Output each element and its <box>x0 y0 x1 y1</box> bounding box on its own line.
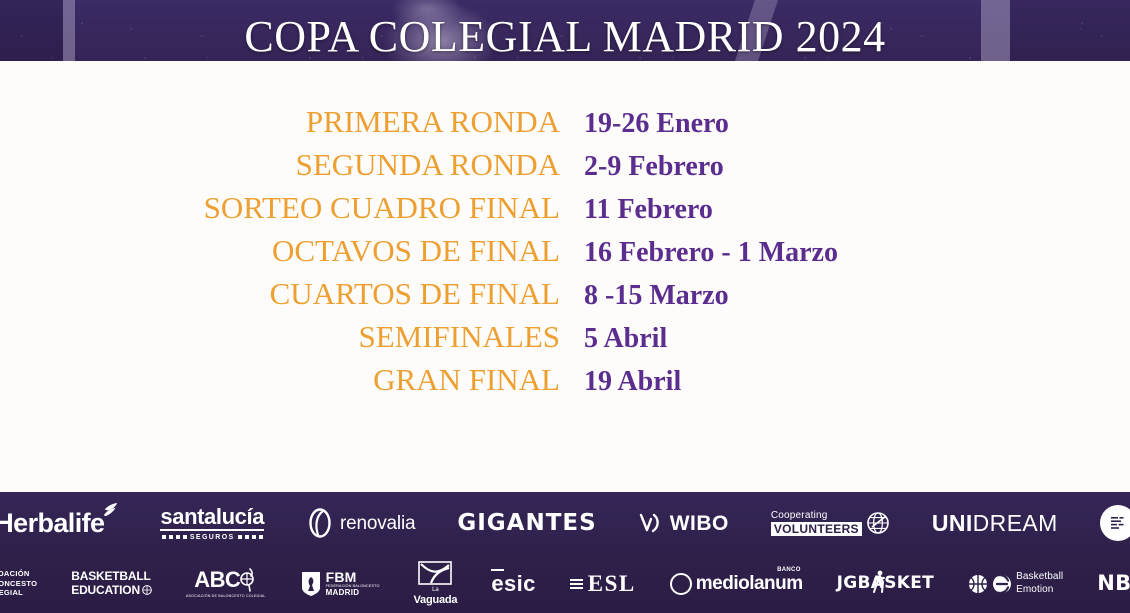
schedule-phase-label: OCTAVOS DE FINAL <box>0 229 560 272</box>
wibo-mark-icon <box>639 512 663 534</box>
sponsor-logo-basketball-emotion: Basketball Emotion <box>968 571 1063 595</box>
la-vaguada-wordmark: Vaguada <box>414 595 458 606</box>
mediolanum-banco-label: BANCO <box>777 567 801 573</box>
sponsor-logo-cooperating-volunteers: Cooperating VOLUNTEERS <box>771 511 890 536</box>
fundacion-line-1: FUNDACIÓN <box>0 569 37 579</box>
schedule-date-value: 11 Febrero <box>560 188 1120 231</box>
sponsor-logo-abc: ABC ASOCIACIÓN DE BALONCESTO COLEGIAL <box>186 568 266 599</box>
basketball-icon <box>142 585 152 595</box>
esl-bars-icon <box>570 579 583 589</box>
fundacion-text-stack: FUNDACIÓN BALONCESTO COLEGIAL <box>0 569 37 599</box>
schedule-phase-label: PRIMERA RONDA <box>0 100 560 143</box>
renovalia-swirl-icon <box>306 508 334 538</box>
abc-letters: ABC <box>194 569 240 591</box>
schedule-row: SEMIFINALES 5 Abril <box>0 315 1130 358</box>
globe-icon <box>866 511 890 535</box>
square-dot-icon <box>183 535 187 539</box>
schedule-phase-label: SORTEO CUADRO FINAL <box>0 186 560 229</box>
fundacion-line-3: COLEGIAL <box>0 588 37 598</box>
square-dot-icon <box>252 535 256 539</box>
header-banner: COPA COLEGIAL MADRID 2024 <box>0 0 1130 61</box>
esl-wordmark: ESL <box>588 572 636 595</box>
schedule-date-value: 19-26 Enero <box>560 102 1120 145</box>
schedule-phase-label: GRAN FINAL <box>0 358 560 401</box>
mediolanum-ring-icon <box>670 573 692 595</box>
square-dot-icon <box>238 535 242 539</box>
mediolanum-text: mediolanum <box>696 573 803 594</box>
sponsor-logo-renovalia: renovalia <box>306 508 415 538</box>
sponsor-logo-fundacion-baloncesto-colegial: FUNDACIÓN BALONCESTO COLEGIAL <box>0 569 37 599</box>
mediolanum-wordmark: mediolanum BANCO <box>696 574 803 593</box>
square-dot-icon <box>259 535 263 539</box>
sponsor-logo-la-vaguada: La Vaguada <box>414 561 458 606</box>
emotion-e-icon <box>992 574 1012 594</box>
sponsor-logo-wibo: WIBO <box>639 512 729 534</box>
volunteers-text-stack: Cooperating VOLUNTEERS <box>771 511 862 536</box>
basketball-label: BASKETBALL <box>71 570 150 583</box>
herbalife-leaf-icon <box>102 502 119 517</box>
unidream-uni-part: UNI <box>932 512 973 535</box>
fbm-shield-icon <box>300 570 322 598</box>
sponsor-bar: Herbalife santalucía SEGUROS <box>0 492 1130 613</box>
schedule-phase-label: SEGUNDA RONDA <box>0 143 560 186</box>
schedule-date-value: 8 -15 Marzo <box>560 274 1120 317</box>
fundacion-line-2: BALONCESTO <box>0 579 37 589</box>
schedule-phase-label: CUARTOS DE FINAL <box>0 272 560 315</box>
square-dot-icon <box>176 535 180 539</box>
sponsor-logo-nbn23: NBN23 <box>1097 573 1130 594</box>
education-label: EDUCATION <box>71 584 140 597</box>
bemotion-line-2: Emotion <box>1016 584 1063 596</box>
circle-badge-glyph-icon <box>1109 515 1127 531</box>
volunteers-label: VOLUNTEERS <box>771 522 862 536</box>
abc-player-icon <box>237 568 257 592</box>
sponsor-logo-banco-mediolanum: mediolanum BANCO <box>670 573 803 595</box>
schedule-row: SORTEO CUADRO FINAL 11 Febrero <box>0 186 1130 229</box>
sponsor-logo-gigantes: GIGANTES <box>457 512 596 535</box>
bemotion-line-1: Basketball <box>1016 571 1063 583</box>
cooperating-label: Cooperating <box>771 511 828 521</box>
unidream-dream-part: DREAM <box>973 512 1058 535</box>
sponsor-logo-circle-badge <box>1100 505 1130 541</box>
basketball-emotion-text: Basketball Emotion <box>1016 571 1063 595</box>
sponsor-logo-santalucia: santalucía SEGUROS <box>160 506 264 541</box>
square-dot-icon <box>162 535 166 539</box>
schedule-date-value: 16 Febrero - 1 Marzo <box>560 231 1120 274</box>
schedule-row: GRAN FINAL 19 Abril <box>0 358 1130 401</box>
schedule-row: PRIMERA RONDA 19-26 Enero <box>0 100 1130 143</box>
wibo-wordmark: WIBO <box>670 513 729 534</box>
page-title: COPA COLEGIAL MADRID 2024 <box>0 6 1130 61</box>
santalucia-seguros-line: SEGUROS <box>162 534 263 541</box>
fbm-madrid-label: MADRID <box>326 589 360 597</box>
santalucia-seguros-label: SEGUROS <box>190 534 235 541</box>
abc-subtitle: ASOCIACIÓN DE BALONCESTO COLEGIAL <box>186 595 266 599</box>
fbm-wordmark: FBM <box>326 570 357 584</box>
la-vaguada-swoosh-icon <box>418 561 452 585</box>
schedule-date-value: 5 Abril <box>560 317 1120 360</box>
abc-wordmark: ABC <box>194 568 257 592</box>
sponsor-logo-fbm: FBM FEDERACIÓN BALONCESTO MADRID <box>300 570 380 598</box>
sponsor-logo-unidream: UNIDREAM <box>932 512 1058 535</box>
schedule-date-value: 19 Abril <box>560 360 1120 403</box>
sponsor-logo-herbalife: Herbalife <box>0 510 118 537</box>
sponsor-logo-jgbasket: JGBASKET <box>837 575 934 592</box>
basketball-icon <box>968 574 988 594</box>
education-row: EDUCATION <box>71 584 152 597</box>
sponsor-row-secondary: FUNDACIÓN BALONCESTO COLEGIAL BASKETBALL… <box>0 554 1130 613</box>
schedule-row: SEGUNDA RONDA 2-9 Febrero <box>0 143 1130 186</box>
sponsor-logo-esic: esic <box>491 573 535 595</box>
sponsor-logo-basketball-education: BASKETBALL EDUCATION <box>71 570 152 597</box>
jgbasket-player-icon <box>871 570 887 594</box>
schedule-phase-label: SEMIFINALES <box>0 315 560 358</box>
renovalia-wordmark: renovalia <box>340 514 415 533</box>
fbm-text-stack: FBM FEDERACIÓN BALONCESTO MADRID <box>326 570 380 597</box>
schedule-row: OCTAVOS DE FINAL 16 Febrero - 1 Marzo <box>0 229 1130 272</box>
herbalife-wordmark: Herbalife <box>0 510 104 537</box>
tournament-schedule: PRIMERA RONDA 19-26 Enero SEGUNDA RONDA … <box>0 100 1130 401</box>
square-dot-icon <box>245 535 249 539</box>
square-dot-icon <box>169 535 173 539</box>
sponsor-row-primary: Herbalife santalucía SEGUROS <box>0 492 1130 554</box>
schedule-date-value: 2-9 Febrero <box>560 145 1120 188</box>
la-vaguada-la-label: La <box>432 587 439 593</box>
santalucia-wordmark: santalucía <box>160 506 264 531</box>
sponsor-logo-esl: ESL <box>570 572 636 595</box>
schedule-row: CUARTOS DE FINAL 8 -15 Marzo <box>0 272 1130 315</box>
